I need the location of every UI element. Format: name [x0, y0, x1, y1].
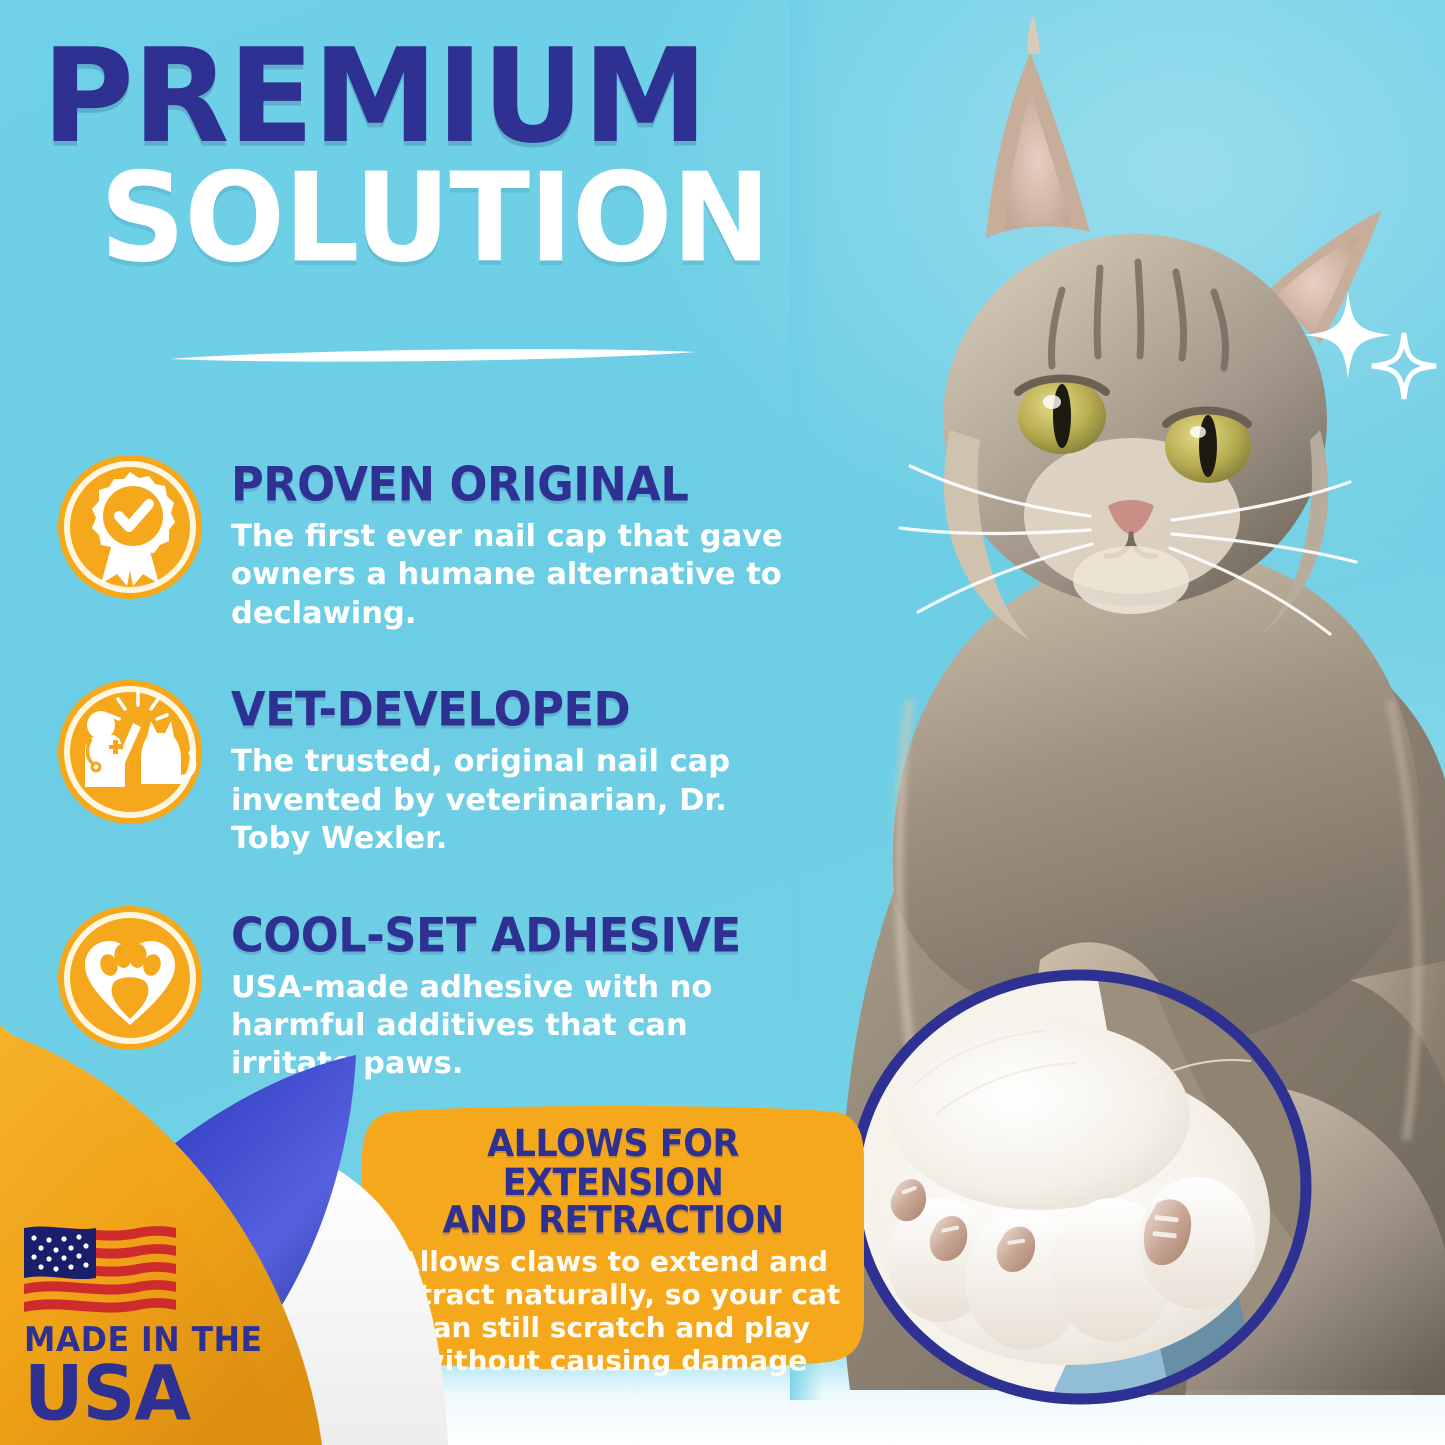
feature-title: COOL-SET ADHESIVE — [231, 908, 838, 963]
swoosh-divider-icon — [168, 344, 698, 366]
feature-item-proven-original: PROVEN ORIGINAL The first ever nail cap … — [55, 448, 815, 633]
sparkle-icon — [1300, 285, 1440, 405]
paw-closeup-inset — [845, 965, 1315, 1410]
feature-description: The first ever nail cap that gave owners… — [231, 518, 811, 633]
feature-title: VET-DEVELOPED — [231, 683, 838, 738]
headline-line-1: PREMIUM — [42, 38, 938, 158]
made-in-usa-badge: MADE IN THE USA — [24, 1222, 294, 1427]
usa-badge-line-2: USA — [24, 1361, 316, 1431]
feature-item-vet-developed: VET-DEVELOPED The trusted, original nail… — [55, 673, 815, 858]
headline-line-2: SOLUTION — [100, 162, 946, 275]
feature-list: PROVEN ORIGINAL The first ever nail cap … — [55, 448, 815, 1084]
usa-flag-icon — [24, 1222, 176, 1317]
vet-highfive-cat-icon — [55, 677, 205, 827]
award-ribbon-icon — [55, 452, 205, 602]
product-infographic: PREMIUM SOLUTION — [0, 0, 1445, 1445]
feature-title: PROVEN ORIGINAL — [231, 458, 838, 513]
feature-description: The trusted, original nail cap invented … — [231, 743, 815, 858]
page-title: PREMIUM SOLUTION — [42, 46, 842, 267]
